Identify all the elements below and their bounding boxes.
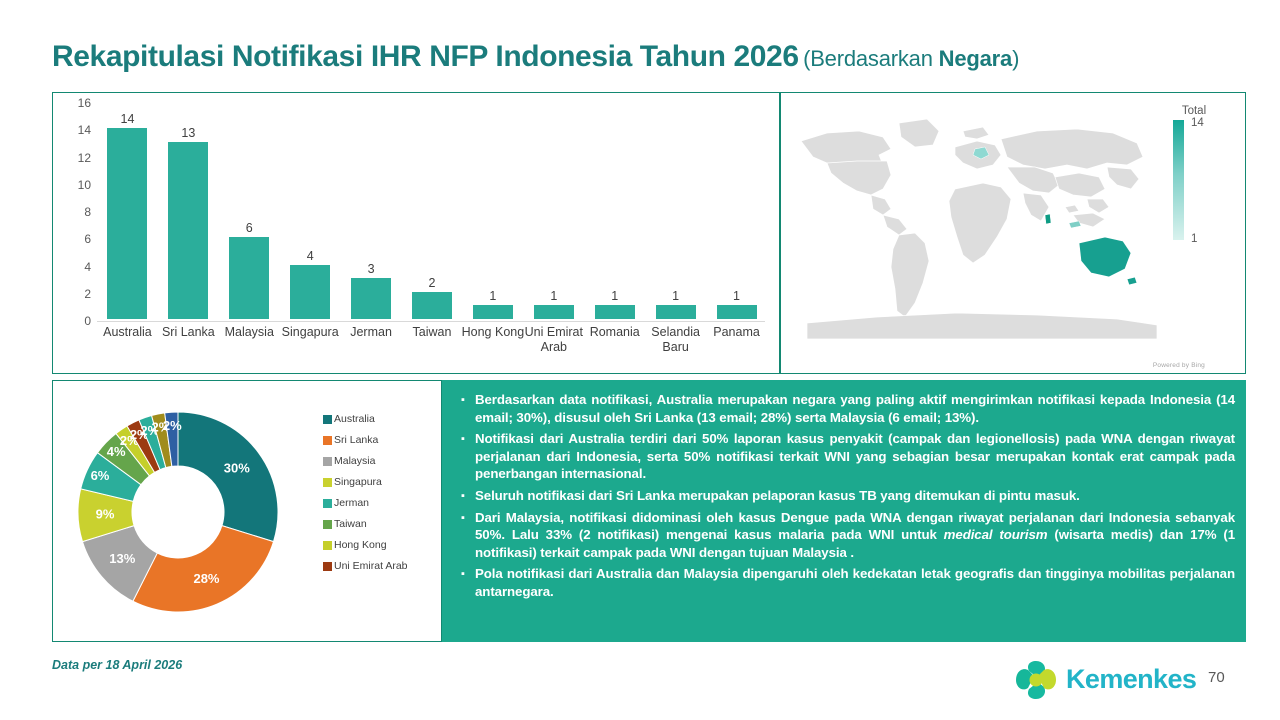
donut-slice-label: 2%	[163, 418, 182, 433]
bullet-marker-icon: ▪	[457, 509, 475, 562]
insight-bullet: ▪Notifikasi dari Australia terdiri dari …	[457, 430, 1235, 483]
bar-category-label: Panama	[702, 325, 771, 340]
donut-legend-label: Malaysia	[334, 455, 375, 467]
bar-value-label: 1	[672, 289, 679, 303]
donut-legend-item[interactable]: Malaysia	[323, 455, 433, 467]
y-axis-tick: 16	[63, 96, 91, 110]
bar-jerman[interactable]	[351, 278, 391, 319]
title-subtitle: (Berdasarkan Negara)	[803, 46, 1019, 71]
bar-romania[interactable]	[595, 305, 635, 319]
donut-legend-item[interactable]: Jerman	[323, 497, 433, 509]
legend-swatch-icon	[323, 436, 332, 445]
title-main-text: Rekapitulasi Notifikasi IHR NFP Indonesi…	[52, 40, 799, 73]
insight-bullet: ▪Pola notifikasi dari Australia dan Mala…	[457, 565, 1235, 600]
insight-bullet: ▪Berdasarkan data notifikasi, Australia …	[457, 391, 1235, 426]
bar-category-label: Taiwan	[398, 325, 467, 340]
map-country-malaysia	[1069, 221, 1081, 228]
kemenkes-logo-text: Kemenkes	[1066, 664, 1196, 695]
bar-category-label: Selandia Baru	[641, 325, 710, 355]
legend-swatch-icon	[323, 415, 332, 424]
legend-swatch-icon	[323, 478, 332, 487]
donut-slice-label: 28%	[193, 571, 219, 586]
insights-panel: ▪Berdasarkan data notifikasi, Australia …	[442, 380, 1246, 642]
bar-australia[interactable]	[107, 128, 147, 319]
bar-hong-kong[interactable]	[473, 305, 513, 319]
bar-malaysia[interactable]	[229, 237, 269, 319]
legend-swatch-icon	[323, 562, 332, 571]
insights-bullet-list: ▪Berdasarkan data notifikasi, Australia …	[457, 391, 1235, 604]
bar-category-label: Australia	[93, 325, 162, 340]
bar-chart-panel: 0246810121416 14Australia13Sri Lanka6Mal…	[52, 92, 780, 374]
map-legend: Total 14 1	[1165, 105, 1223, 240]
bar-singapura[interactable]	[290, 265, 330, 320]
bar-value-label: 14	[121, 112, 135, 126]
bullet-marker-icon: ▪	[457, 430, 475, 483]
donut-slice-label: 13%	[109, 551, 135, 566]
bar-value-label: 1	[550, 289, 557, 303]
map-legend-min-value: 1	[1191, 233, 1197, 245]
donut-legend-label: Uni Emirat Arab	[334, 560, 408, 572]
y-axis-tick: 4	[63, 260, 91, 274]
y-axis-tick: 12	[63, 151, 91, 165]
legend-swatch-icon	[323, 499, 332, 508]
insight-bullet: ▪Seluruh notifikasi dari Sri Lanka merup…	[457, 487, 1235, 505]
map-legend-gradient	[1173, 120, 1184, 240]
bullet-marker-icon: ▪	[457, 487, 475, 505]
bar-value-label: 1	[489, 289, 496, 303]
page-title: Rekapitulasi Notifikasi IHR NFP Indonesi…	[52, 40, 1232, 82]
donut-slice-label: 30%	[224, 461, 250, 476]
y-axis-tick: 10	[63, 178, 91, 192]
donut-legend: AustraliaSri LankaMalaysiaSingapuraJerma…	[323, 413, 433, 581]
title-sub-prefix: (Berdasarkan	[803, 46, 939, 71]
insight-bullet-text: Dari Malaysia, notifikasi didominasi ole…	[475, 509, 1235, 562]
donut-slice-label: 6%	[91, 468, 110, 483]
bar-category-label: Uni Emirat Arab	[519, 325, 588, 355]
bullet-marker-icon: ▪	[457, 391, 475, 426]
donut-legend-label: Australia	[334, 413, 375, 425]
bar-chart-baseline	[97, 321, 765, 322]
y-axis-tick: 8	[63, 205, 91, 219]
map-legend-scale: 14 1	[1165, 120, 1223, 240]
y-axis-tick: 2	[63, 287, 91, 301]
footer-data-date: Data per 18 April 2026	[52, 658, 182, 672]
bar-sri-lanka[interactable]	[168, 142, 208, 319]
legend-swatch-icon	[323, 520, 332, 529]
map-attribution: Powered by Bing	[1153, 362, 1205, 369]
map-country-sri-lanka	[1045, 214, 1051, 224]
bar-category-label: Malaysia	[215, 325, 284, 340]
legend-swatch-icon	[323, 457, 332, 466]
bar-value-label: 13	[181, 126, 195, 140]
donut-legend-label: Taiwan	[334, 518, 367, 530]
title-sub-suffix: )	[1012, 46, 1019, 71]
donut-legend-item[interactable]: Singapura	[323, 476, 433, 488]
legend-swatch-icon	[323, 541, 332, 550]
bar-panama[interactable]	[717, 305, 757, 319]
donut-chart: 30%28%13%9%6%4%2%2%2%2%2%	[63, 397, 293, 627]
donut-legend-label: Hong Kong	[334, 539, 387, 551]
bar-category-label: Sri Lanka	[154, 325, 223, 340]
footer-logo-area: Kemenkes 70	[1012, 655, 1252, 707]
insight-bullet: ▪Dari Malaysia, notifikasi didominasi ol…	[457, 509, 1235, 562]
donut-chart-panel: 30%28%13%9%6%4%2%2%2%2%2% AustraliaSri L…	[52, 380, 442, 642]
bar-value-label: 6	[246, 221, 253, 235]
map-legend-title: Total	[1165, 105, 1223, 117]
bar-category-label: Singapura	[276, 325, 345, 340]
bar-value-label: 2	[429, 276, 436, 290]
bar-value-label: 1	[733, 289, 740, 303]
insight-bullet-text: Pola notifikasi dari Australia dan Malay…	[475, 565, 1235, 600]
donut-legend-label: Sri Lanka	[334, 434, 378, 446]
bar-category-label: Jerman	[337, 325, 406, 340]
insight-bullet-text: Berdasarkan data notifikasi, Australia m…	[475, 391, 1235, 426]
map-panel: Total 14 1 Powered by Bing	[780, 92, 1246, 374]
y-axis-tick: 14	[63, 123, 91, 137]
donut-legend-item[interactable]: Australia	[323, 413, 433, 425]
map-legend-max-value: 14	[1191, 117, 1204, 129]
insight-bullet-text: Notifikasi dari Australia terdiri dari 5…	[475, 430, 1235, 483]
insight-bullet-text: Seluruh notifikasi dari Sri Lanka merupa…	[475, 487, 1080, 505]
donut-chart-svg[interactable]: 30%28%13%9%6%4%2%2%2%2%2%	[63, 397, 293, 627]
donut-legend-item[interactable]: Uni Emirat Arab	[323, 560, 433, 572]
bar-category-label: Romania	[580, 325, 649, 340]
bar-category-label: Hong Kong	[458, 325, 527, 340]
donut-slice[interactable]	[133, 526, 274, 612]
donut-slice-label: 9%	[96, 506, 115, 521]
title-sub-bold: Negara	[939, 46, 1012, 71]
kemenkes-logo-icon	[1012, 657, 1060, 703]
bullet-marker-icon: ▪	[457, 565, 475, 600]
donut-legend-label: Singapura	[334, 476, 382, 488]
world-map[interactable]	[787, 111, 1177, 351]
donut-slice[interactable]	[178, 412, 278, 542]
y-axis-tick: 6	[63, 232, 91, 246]
bar-chart: 0246810121416 14Australia13Sri Lanka6Mal…	[53, 93, 779, 373]
bar-selandia-baru[interactable]	[656, 305, 696, 319]
y-axis-tick: 0	[63, 314, 91, 328]
page-number: 70	[1208, 669, 1225, 686]
bar-value-label: 4	[307, 249, 314, 263]
bar-taiwan[interactable]	[412, 292, 452, 319]
donut-legend-item[interactable]: Taiwan	[323, 518, 433, 530]
bar-uni-emirat-arab[interactable]	[534, 305, 574, 319]
donut-legend-item[interactable]: Sri Lanka	[323, 434, 433, 446]
bar-value-label: 3	[368, 262, 375, 276]
donut-legend-item[interactable]: Hong Kong	[323, 539, 433, 551]
bar-chart-y-axis: 0246810121416	[61, 93, 91, 373]
bar-value-label: 1	[611, 289, 618, 303]
donut-legend-label: Jerman	[334, 497, 369, 509]
